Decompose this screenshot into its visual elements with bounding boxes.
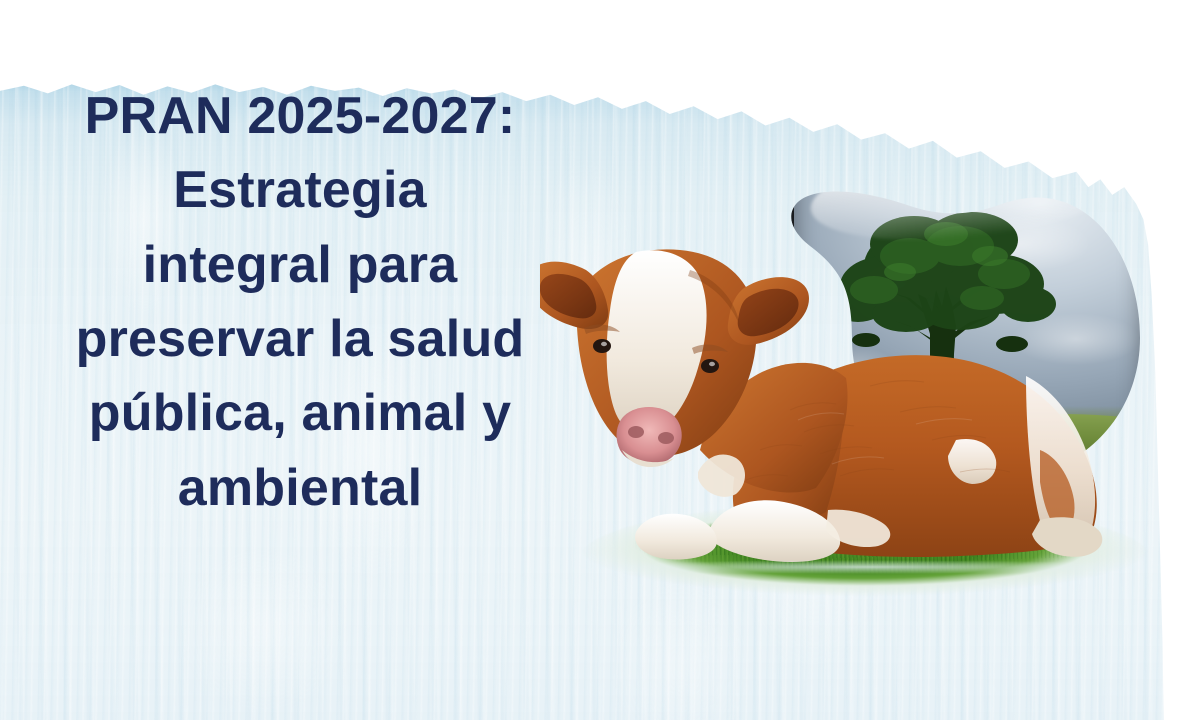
- headline-line-1: PRAN 2025-2027:: [0, 79, 600, 153]
- banner-root: PRAN 2025-2027: Estrategia integral para…: [0, 0, 1200, 720]
- headline-line-3: integral para: [0, 228, 600, 302]
- headline-line-6: ambiental: [0, 451, 600, 525]
- headline-line-4: preservar la salud: [0, 302, 600, 376]
- headline-line-2: Estrategia: [0, 153, 600, 227]
- cow-eye-right: [701, 359, 719, 373]
- headline-line-5: pública, animal y: [0, 376, 600, 450]
- photo-composition: [540, 120, 1180, 640]
- page-title: PRAN 2025-2027: Estrategia integral para…: [0, 79, 600, 525]
- cow-photo: [540, 120, 1180, 640]
- cow-nostril-right: [658, 432, 674, 444]
- cow-front-leg-2: [635, 514, 717, 560]
- cow-nostril-left: [628, 426, 644, 438]
- cow-dewlap: [698, 454, 745, 496]
